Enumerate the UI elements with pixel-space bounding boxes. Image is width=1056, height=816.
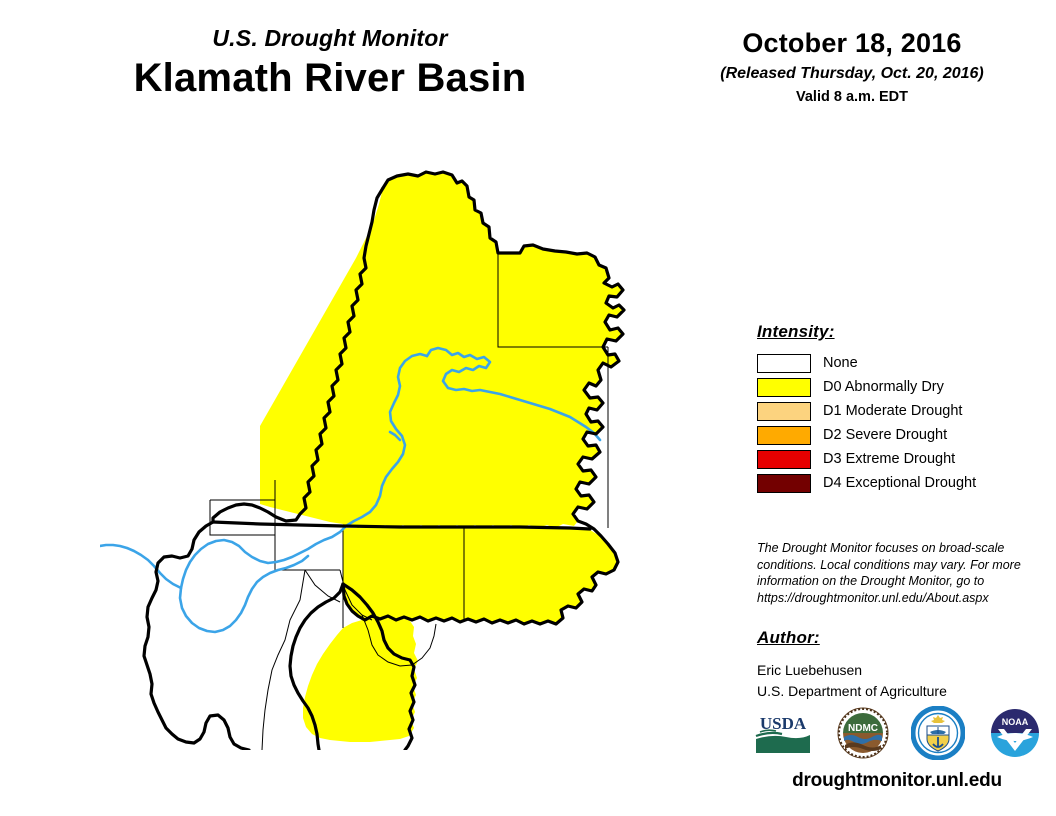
ndmc-logo-text: NDMC xyxy=(848,723,878,734)
d0-area-south xyxy=(303,617,418,742)
header-left: U.S. Drought Monitor Klamath River Basin xyxy=(0,26,660,101)
d0-area-northeast-lower xyxy=(343,528,618,624)
basin-outline-southwest xyxy=(144,522,249,750)
author-block: Author: Eric Luebehusen U.S. Department … xyxy=(757,628,1027,702)
program-title: U.S. Drought Monitor xyxy=(0,26,660,51)
drought-map[interactable] xyxy=(100,150,700,750)
legend: Intensity: None D0 Abnormally Dry D1 Mod… xyxy=(757,322,1017,495)
legend-label-none: None xyxy=(823,356,858,371)
valid-time: Valid 8 a.m. EDT xyxy=(672,89,1032,106)
release-date: (Released Thursday, Oct. 20, 2016) xyxy=(672,64,1032,83)
legend-item-d4[interactable]: D4 Exceptional Drought xyxy=(757,471,1017,495)
noaa-logo-text: NOAA xyxy=(1002,717,1029,727)
legend-label-d4: D4 Exceptional Drought xyxy=(823,476,976,491)
header-right: October 18, 2016 (Released Thursday, Oct… xyxy=(672,28,1032,107)
legend-swatch-d0 xyxy=(757,378,811,397)
legend-item-d1[interactable]: D1 Moderate Drought xyxy=(757,399,1017,423)
map-date: October 18, 2016 xyxy=(672,28,1032,59)
author-organization: U.S. Department of Agriculture xyxy=(757,681,1027,702)
page-title: Klamath River Basin xyxy=(0,55,660,101)
legend-label-d0: D0 Abnormally Dry xyxy=(823,380,944,395)
legend-label-d1: D1 Moderate Drought xyxy=(823,404,962,419)
ndmc-logo[interactable]: NDMC xyxy=(837,707,889,759)
commerce-seal-logo[interactable] xyxy=(911,706,965,760)
legend-title: Intensity: xyxy=(757,322,1017,342)
legend-swatch-d1 xyxy=(757,402,811,421)
legend-item-d3[interactable]: D3 Extreme Drought xyxy=(757,447,1017,471)
legend-item-none[interactable]: None xyxy=(757,351,1017,375)
legend-label-d2: D2 Severe Drought xyxy=(823,428,947,443)
disclaimer-line-2: conditions. Local conditions may vary. F… xyxy=(757,557,1027,574)
site-url[interactable]: droughtmonitor.unl.edu xyxy=(757,770,1037,792)
legend-item-d2[interactable]: D2 Severe Drought xyxy=(757,423,1017,447)
usda-logo[interactable]: USDA xyxy=(752,709,814,757)
author-title: Author: xyxy=(757,628,1027,648)
legend-label-d3: D3 Extreme Drought xyxy=(823,452,955,467)
disclaimer-text: The Drought Monitor focuses on broad-sca… xyxy=(757,540,1027,606)
disclaimer-line-3: information on the Drought Monitor, go t… xyxy=(757,573,1027,590)
author-name: Eric Luebehusen xyxy=(757,660,1027,681)
legend-swatch-none xyxy=(757,354,811,373)
legend-item-d0[interactable]: D0 Abnormally Dry xyxy=(757,375,1017,399)
disclaimer-line-1: The Drought Monitor focuses on broad-sca… xyxy=(757,540,1027,557)
legend-swatch-d4 xyxy=(757,474,811,493)
disclaimer-line-4[interactable]: https://droughtmonitor.unl.edu/About.asp… xyxy=(757,590,1027,607)
logo-row: USDA NDMC NOAA xyxy=(752,702,1042,764)
noaa-logo[interactable]: NOAA xyxy=(988,707,1042,759)
legend-swatch-d2 xyxy=(757,426,811,445)
legend-swatch-d3 xyxy=(757,450,811,469)
